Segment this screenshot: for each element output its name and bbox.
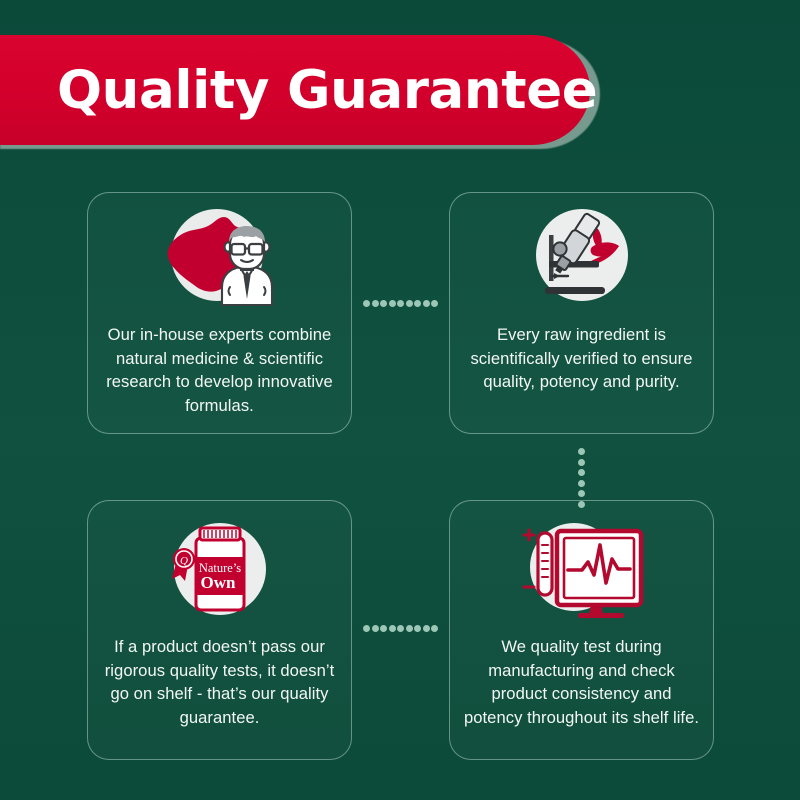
- connector-dot: [578, 501, 585, 508]
- connector-dot: [578, 459, 585, 466]
- connector-dot: [380, 625, 387, 632]
- connector-dot: [431, 300, 438, 307]
- connector-dot: [431, 625, 438, 632]
- connector-dot: [389, 300, 396, 307]
- connector-dot: [578, 490, 585, 497]
- connector-dot: [363, 300, 370, 307]
- bottle-brand-line2: Own: [200, 573, 236, 592]
- card-text: Every raw ingredient is scientifically v…: [450, 323, 713, 394]
- monitor-ecg-thermometer-icon: [516, 517, 648, 629]
- card-text: We quality test during manufacturing and…: [450, 635, 713, 729]
- connector-dot: [406, 300, 413, 307]
- banner-shape: Quality Guarantee: [0, 35, 590, 145]
- connector-dot: [414, 300, 421, 307]
- connector-dot: [389, 625, 396, 632]
- connector-dot: [397, 625, 404, 632]
- microscope-leaf-icon: [516, 205, 648, 317]
- page-title: Quality Guarantee: [0, 64, 597, 117]
- connector-card1-to-card2: [363, 300, 438, 307]
- connector-dot: [578, 469, 585, 476]
- card-in-house-experts: Our in-house experts combine natural med…: [87, 192, 352, 434]
- connector-dot: [423, 300, 430, 307]
- connector-dot: [372, 300, 379, 307]
- card-raw-ingredient-testing: Every raw ingredient is scientifically v…: [449, 192, 714, 434]
- connector-card2-to-card4: [578, 448, 585, 508]
- connector-dot: [578, 448, 585, 455]
- award-badge-letter: Q: [180, 555, 188, 567]
- connector-dot: [397, 300, 404, 307]
- connector-dot: [372, 625, 379, 632]
- connector-dot: [423, 625, 430, 632]
- card-text: Our in-house experts combine natural med…: [88, 323, 351, 417]
- card-manufacturing-testing: We quality test during manufacturing and…: [449, 500, 714, 760]
- connector-dot: [363, 625, 370, 632]
- header-banner: Quality Guarantee: [0, 35, 600, 145]
- card-quality-tests-shelf: Nature’s Own Q If a product doesn’t pass…: [87, 500, 352, 760]
- connector-dot: [578, 480, 585, 487]
- connector-card3-to-card4: [363, 625, 438, 632]
- card-text: If a product doesn’t pass our rigorous q…: [88, 635, 351, 729]
- australia-map-scientist-icon: [154, 205, 286, 317]
- natures-own-bottle-award-icon: Nature’s Own Q: [154, 517, 286, 629]
- infographic-canvas: Quality Guarantee: [0, 0, 800, 800]
- connector-dot: [414, 625, 421, 632]
- connector-dot: [406, 625, 413, 632]
- connector-dot: [380, 300, 387, 307]
